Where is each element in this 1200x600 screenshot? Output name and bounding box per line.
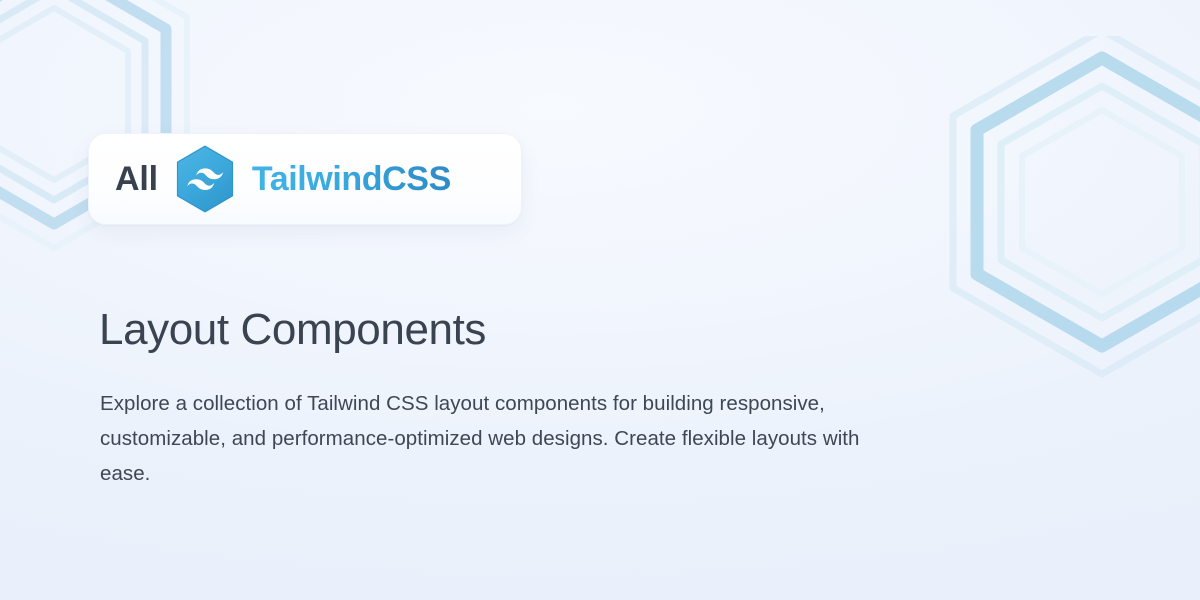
- badge-prefix-label: All: [115, 162, 158, 196]
- brand-badge[interactable]: All TailwindCSS: [88, 133, 522, 225]
- badge-brand-label: TailwindCSS: [252, 162, 451, 196]
- tailwind-hexagon-logo-icon: [172, 144, 238, 214]
- hero-banner: All TailwindCSS Layout Components Explor…: [0, 0, 1200, 600]
- page-description: Explore a collection of Tailwind CSS lay…: [100, 386, 860, 491]
- page-title: Layout Components: [99, 305, 486, 354]
- decorative-hexagons-right: [932, 36, 1200, 406]
